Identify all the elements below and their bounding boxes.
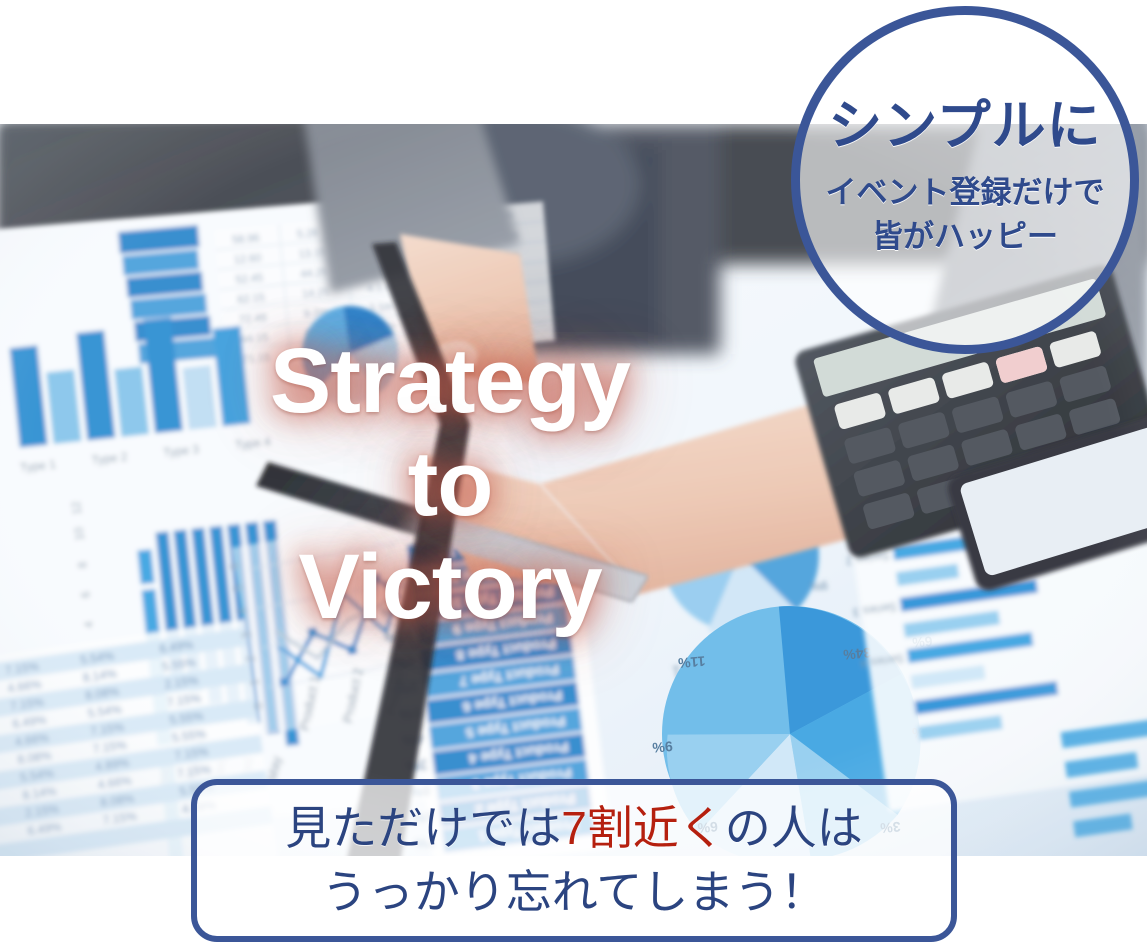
callout-line-1-pre: 見ただけでは — [285, 802, 561, 854]
callout-line-1: 見ただけでは7割近くの人は — [285, 797, 863, 860]
badge-title: シンプルに — [828, 95, 1101, 157]
circle-badge: シンプルに イベント登録だけで 皆がハッピー — [791, 6, 1139, 354]
badge-subtitle: イベント登録だけで 皆がハッピー — [826, 171, 1105, 259]
badge-subtitle-line-1: イベント登録だけで — [826, 171, 1105, 215]
poster-canvas: 58.965.2831.156.249m 12.6013.151.0m3.0m2… — [0, 0, 1147, 952]
callout-line-1-post: の人は — [725, 802, 863, 854]
badge-subtitle-line-2: 皆がハッピー — [826, 215, 1105, 259]
callout-box: 見ただけでは7割近くの人は うっかり忘れてしまう！ — [191, 779, 957, 942]
callout-line-2: うっかり忘れてしまう！ — [322, 861, 827, 924]
callout-highlight: 7割近く — [561, 802, 725, 854]
